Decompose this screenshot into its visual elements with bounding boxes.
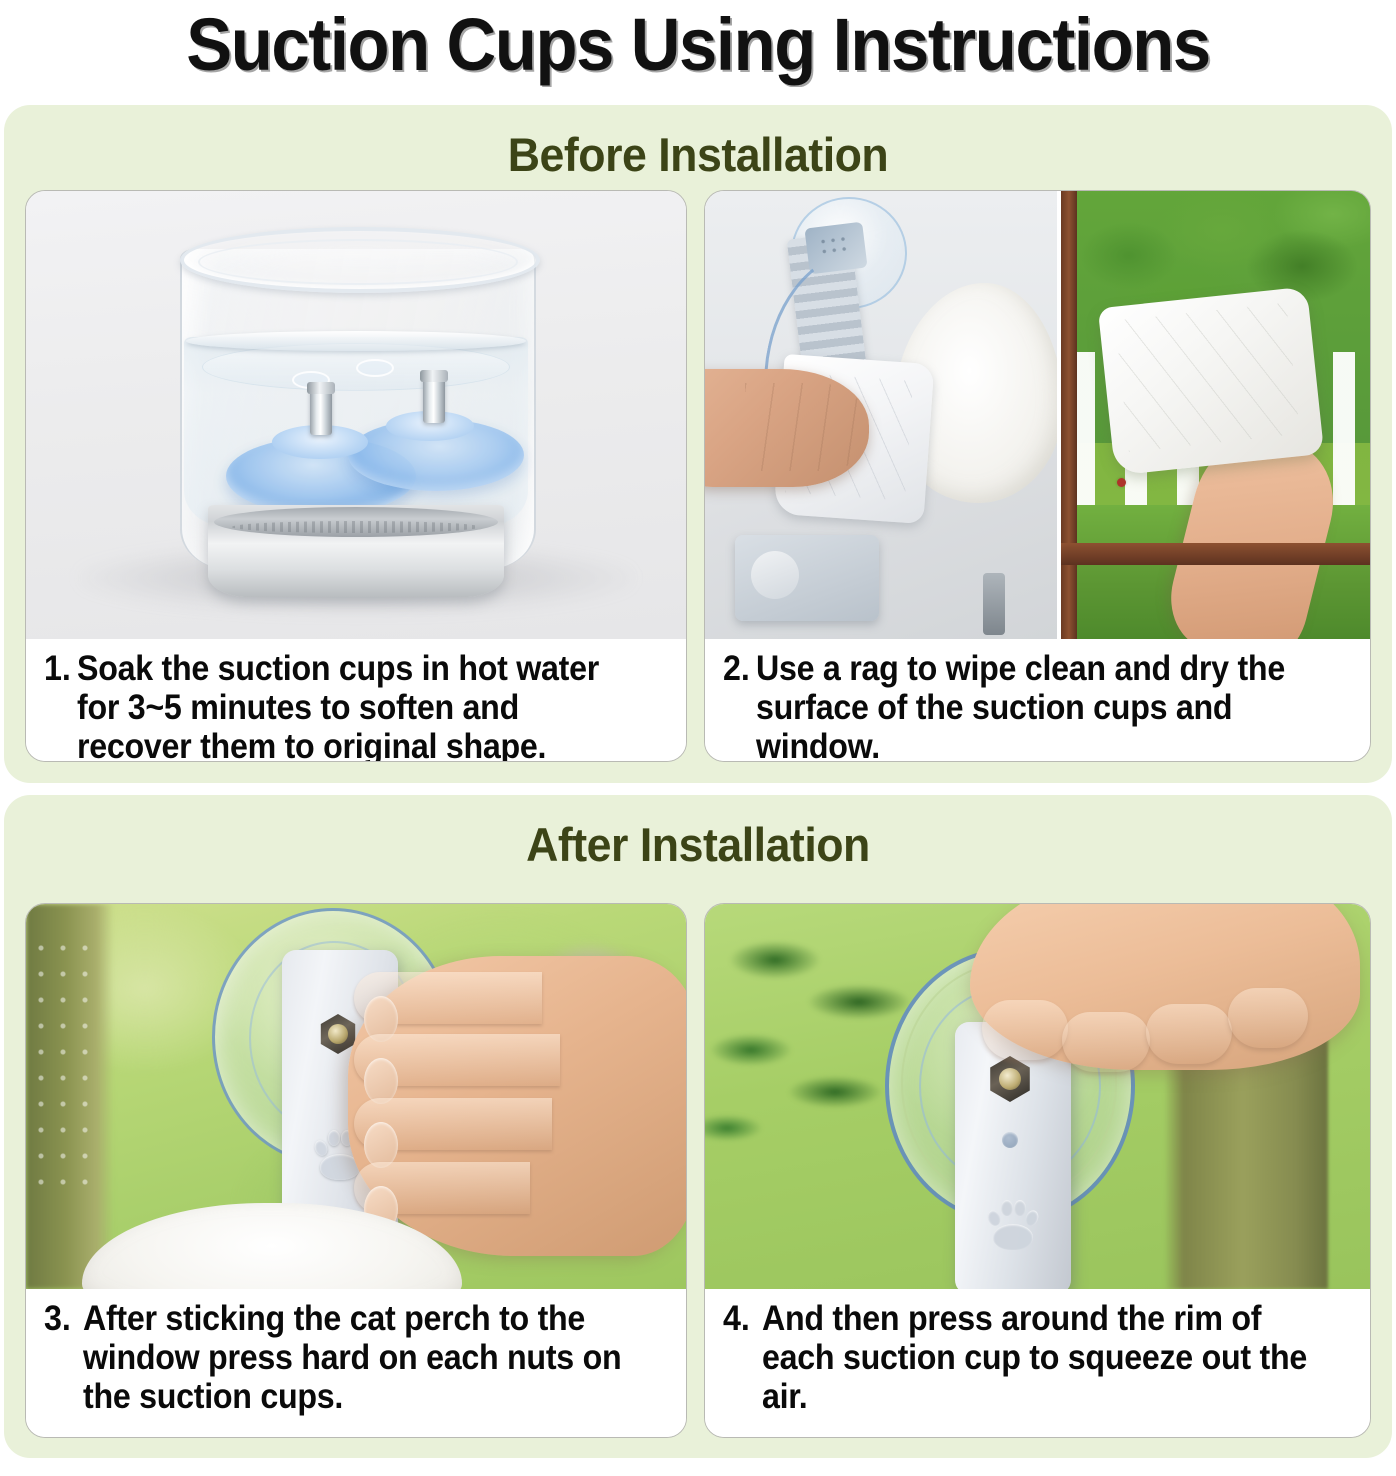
step-text-2: Use a rag to wipe clean and dry the surf… <box>756 649 1308 762</box>
step-number-4: 4. <box>723 1299 759 1338</box>
section-heading-after: After Installation <box>39 817 1358 872</box>
step-number-1: 1. <box>44 649 75 688</box>
page-title: Suction Cups Using Instructions <box>49 2 1347 87</box>
section-after-installation: After Installation <box>4 795 1392 1458</box>
step-card-4: 4. And then press around the rim of each… <box>704 903 1371 1438</box>
step-card-2: 2. Use a rag to wipe clean and dry the s… <box>704 190 1371 762</box>
photo-press-cup-rim <box>705 904 1370 1289</box>
step-number-3: 3. <box>44 1299 80 1338</box>
step-text-4: And then press around the rim of each su… <box>762 1299 1308 1417</box>
photo-wipe-window-right <box>1061 191 1370 639</box>
step-caption-3: 3. After sticking the cat perch to the w… <box>26 1289 686 1437</box>
step-caption-2: 2. Use a rag to wipe clean and dry the s… <box>705 639 1370 762</box>
step-text-1: Soak the suction cups in hot water for 3… <box>77 649 624 762</box>
step-number-2: 2. <box>723 649 754 688</box>
photo-soaking-suction-cups <box>26 191 686 639</box>
photo-wipe-cup-left <box>705 191 1057 639</box>
section-heading-before: Before Installation <box>39 127 1358 182</box>
photo-wipe-cups-and-window <box>705 191 1370 639</box>
step-card-3: 3. After sticking the cat perch to the w… <box>25 903 687 1438</box>
photo-press-bracket-nut <box>26 904 686 1289</box>
paw-print-icon <box>987 1198 1039 1250</box>
instruction-infographic: Suction Cups Using Instructions Before I… <box>0 0 1396 1476</box>
step-caption-1: 1. Soak the suction cups in hot water fo… <box>26 639 686 762</box>
section-before-installation: Before Installation <box>4 105 1392 783</box>
step-caption-4: 4. And then press around the rim of each… <box>705 1289 1370 1437</box>
step-text-3: After sticking the cat perch to the wind… <box>83 1299 625 1417</box>
step-card-1: 1. Soak the suction cups in hot water fo… <box>25 190 687 762</box>
